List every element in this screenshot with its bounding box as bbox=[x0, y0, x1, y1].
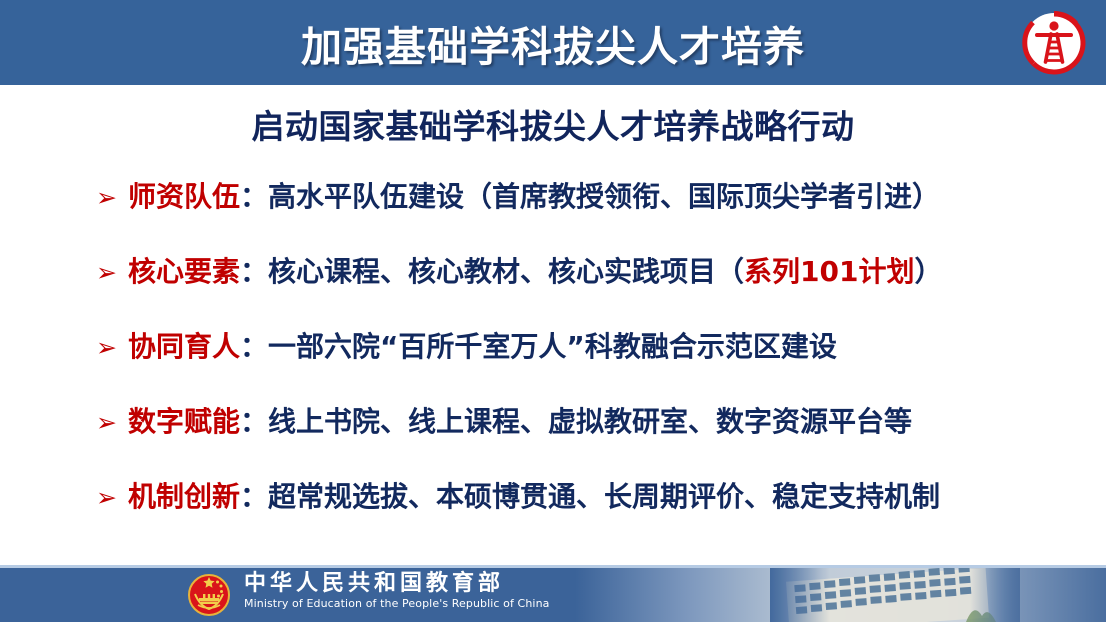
arrow-bullet-icon: ➢ bbox=[96, 260, 128, 285]
footer-bar bbox=[0, 568, 1106, 622]
list-item: ➢ 师资队伍：高水平队伍建设（首席教授领衔、国际顶尖学者引进） bbox=[96, 183, 1056, 258]
bullet-keyword: 师资队伍 bbox=[128, 180, 240, 213]
subtitle: 启动国家基础学科拔尖人才培养战略行动 bbox=[0, 100, 1106, 148]
ministry-building-photo bbox=[770, 568, 1020, 622]
bullet-keyword: 核心要素 bbox=[128, 255, 240, 288]
bullet-list: ➢ 师资队伍：高水平队伍建设（首席教授领衔、国际顶尖学者引进） ➢ 核心要素：核… bbox=[96, 183, 1056, 558]
bullet-body: ：核心课程、核心教材、核心实践项目（ bbox=[240, 255, 744, 288]
bullet-tail: ） bbox=[914, 255, 942, 288]
bullet-text: 师资队伍：高水平队伍建设（首席教授领衔、国际顶尖学者引进） bbox=[128, 183, 940, 211]
ministry-name-cn: 中华人民共和国教育部 bbox=[244, 570, 549, 596]
arrow-bullet-icon: ➢ bbox=[96, 485, 128, 510]
list-item: ➢ 数字赋能：线上书院、线上课程、虚拟教研室、数字资源平台等 bbox=[96, 408, 1056, 483]
bullet-body: ：一部六院“百所千室万人”科教融合示范区建设 bbox=[240, 330, 837, 363]
national-emblem-china-icon bbox=[186, 572, 232, 618]
bullet-keyword: 协同育人 bbox=[128, 330, 240, 363]
bullet-text: 核心要素：核心课程、核心教材、核心实践项目（系列101计划） bbox=[128, 258, 943, 286]
footer-ministry-text: 中华人民共和国教育部 Ministry of Education of the … bbox=[244, 570, 549, 611]
page-title: 加强基础学科拔尖人才培养 bbox=[0, 0, 1106, 85]
bullet-keyword: 机制创新 bbox=[128, 480, 240, 513]
bullet-text: 数字赋能：线上书院、线上课程、虚拟教研室、数字资源平台等 bbox=[128, 408, 912, 436]
arrow-bullet-icon: ➢ bbox=[96, 185, 128, 210]
ministry-name-en: Ministry of Education of the People's Re… bbox=[244, 596, 549, 611]
list-item: ➢ 核心要素：核心课程、核心教材、核心实践项目（系列101计划） bbox=[96, 258, 1056, 333]
bullet-body: ：线上书院、线上课程、虚拟教研室、数字资源平台等 bbox=[240, 405, 912, 438]
arrow-bullet-icon: ➢ bbox=[96, 410, 128, 435]
bullet-body: ：高水平队伍建设（首席教授领衔、国际顶尖学者引进） bbox=[240, 180, 940, 213]
bullet-keyword: 数字赋能 bbox=[128, 405, 240, 438]
bullet-text: 协同育人：一部六院“百所千室万人”科教融合示范区建设 bbox=[128, 333, 837, 361]
arrow-bullet-icon: ➢ bbox=[96, 335, 128, 360]
slide: 加强基础学科拔尖人才培养 启动国家基础学科拔尖人才培养战略行动 ➢ 师资队伍：高… bbox=[0, 0, 1106, 622]
bullet-text: 机制创新：超常规选拔、本硕博贯通、长周期评价、稳定支持机制 bbox=[128, 483, 940, 511]
list-item: ➢ 机制创新：超常规选拔、本硕博贯通、长周期评价、稳定支持机制 bbox=[96, 483, 1056, 558]
list-item: ➢ 协同育人：一部六院“百所千室万人”科教融合示范区建设 bbox=[96, 333, 1056, 408]
bullet-body: ：超常规选拔、本硕博贯通、长周期评价、稳定支持机制 bbox=[240, 480, 940, 513]
bullet-highlight: 系列101计划 bbox=[744, 255, 914, 288]
university-tower-emblem-icon bbox=[1018, 7, 1090, 79]
